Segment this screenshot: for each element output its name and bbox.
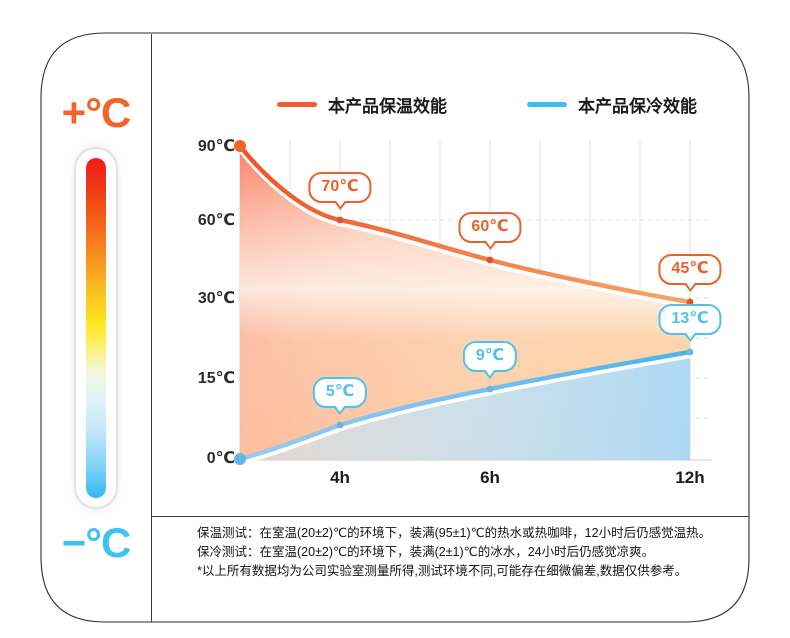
footnote-line-hot: 保温测试：在室温(20±2)℃的环境下，装满(95±1)℃的热水或热咖啡，12小… [197, 524, 742, 543]
callout-hot-4h[interactable]: 70℃ [308, 172, 371, 203]
product-insulation-chart-card: +°C −°C 本产品保温效能 本产品保冷效能 90℃ 60℃ 30℃ 15℃ … [0, 0, 790, 638]
hot-point-6h [487, 257, 494, 264]
thermometer-minus-label: −°C [62, 522, 131, 564]
legend-label-hot: 本产品保温效能 [328, 92, 447, 117]
footnote-divider [152, 516, 749, 517]
thermometer-panel: +°C −°C [42, 34, 150, 622]
cold-point-4h [337, 422, 344, 429]
thermometer-gradient-fill [86, 158, 106, 498]
legend-swatch-hot-icon [277, 102, 317, 107]
callout-cold-4h[interactable]: 5℃ [313, 377, 367, 408]
x-tick-4h: 4h [330, 468, 350, 488]
cold-point-start [234, 453, 246, 465]
callout-hot-12h[interactable]: 45℃ [658, 254, 721, 285]
callout-cold-12h[interactable]: 13℃ [658, 304, 721, 335]
x-tick-12h: 12h [675, 468, 704, 488]
legend-label-cold: 本产品保冷效能 [578, 92, 697, 117]
thermometer-plus-label: +°C [62, 92, 131, 134]
legend-swatch-cold-icon [527, 102, 567, 107]
chart-legend: 本产品保温效能 本产品保冷效能 [160, 92, 740, 122]
footnote-line-disclaimer: *以上所有数据均为公司实验室测量所得,测试环境不同,可能存在细微偏差,数据仅供参… [197, 562, 742, 581]
cold-point-6h [487, 386, 494, 393]
legend-item-hot: 本产品保温效能 [277, 92, 447, 117]
legend-item-cold: 本产品保冷效能 [527, 92, 697, 117]
hot-point-4h [337, 217, 344, 224]
x-tick-6h: 6h [480, 468, 500, 488]
callout-hot-6h[interactable]: 60℃ [458, 212, 521, 243]
thermometer-tube [79, 152, 113, 504]
footnote-block: 保温测试：在室温(20±2)℃的环境下，装满(95±1)℃的热水或热咖啡，12小… [197, 524, 742, 581]
chart-area: 90℃ 60℃ 30℃ 15℃ 0℃ [152, 130, 750, 510]
cold-point-12h [687, 349, 694, 356]
callout-cold-6h[interactable]: 9℃ [463, 341, 517, 372]
hot-point-start [234, 140, 246, 152]
footnote-line-cold: 保冷测试：在室温(20±2)℃的环境下，装满(2±1)℃的冰水，24小时后仍感觉… [197, 543, 742, 562]
